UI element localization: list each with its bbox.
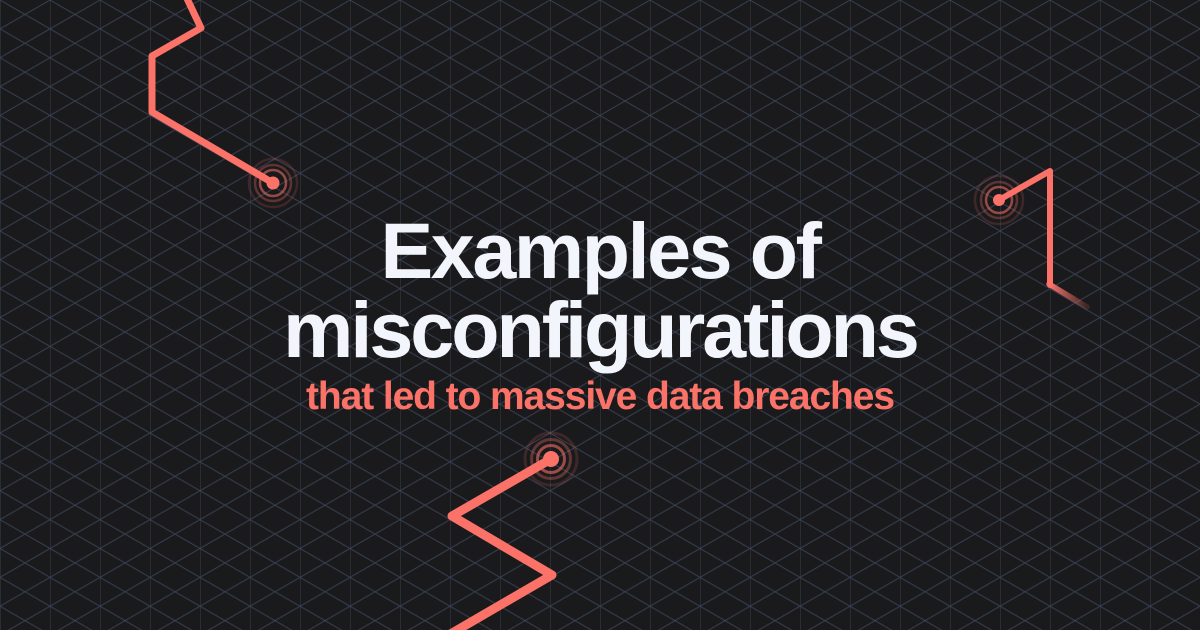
title-block: Examples of misconfigurations that led t… xyxy=(0,0,1200,630)
page-subtitle: that led to massive data breaches xyxy=(0,377,1200,418)
title-line-2: misconfigurations xyxy=(0,291,1200,369)
title-line-1: Examples of xyxy=(0,212,1200,290)
social-share-card: Examples of misconfigurations that led t… xyxy=(0,0,1200,630)
page-title: Examples of misconfigurations xyxy=(0,212,1200,368)
